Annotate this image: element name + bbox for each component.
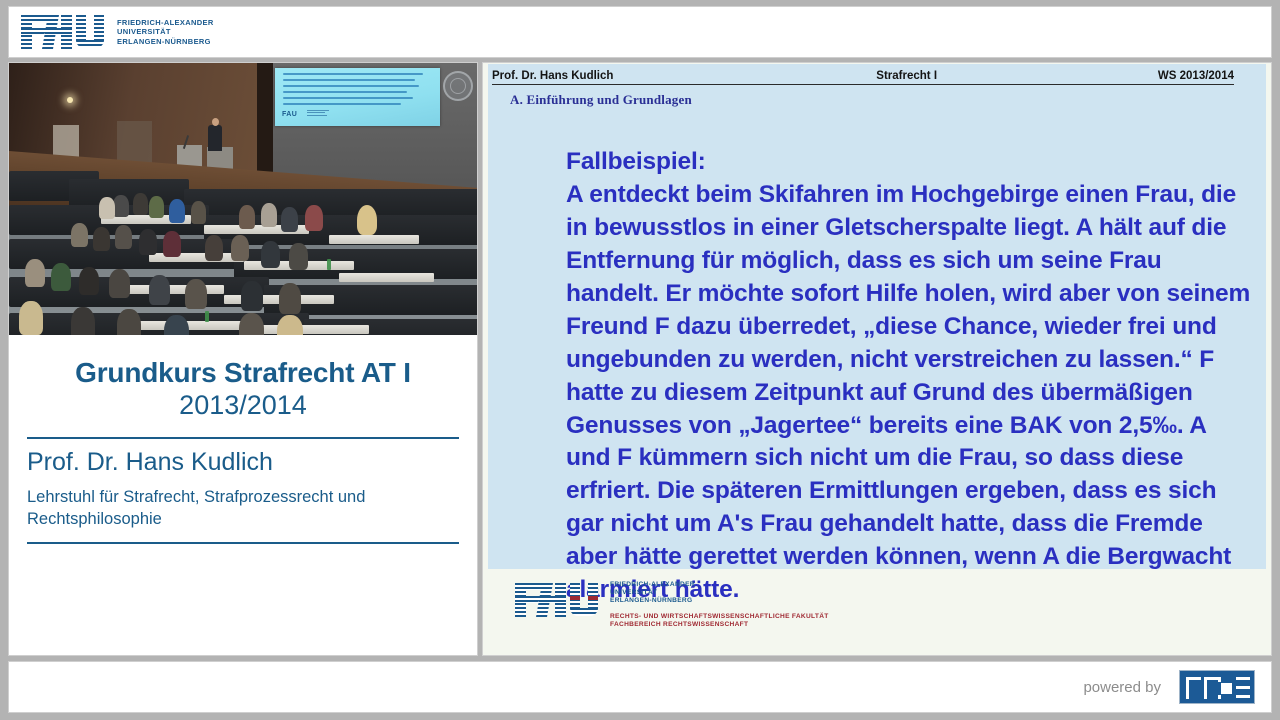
slide-body-text: A entdeckt beim Skifahren im Hochgebirge… (566, 181, 1250, 603)
lecturer-name: Prof. Dr. Hans Kudlich (27, 447, 459, 477)
course-year: 2013/2014 (27, 390, 459, 421)
divider-top (27, 437, 459, 439)
slide-footer-text: FRIEDRICH-ALEXANDER UNIVERSITÄT ERLANGEN… (610, 581, 829, 629)
fau-wordmark-icon-footer (513, 581, 601, 619)
footer-bar: powered by (8, 661, 1272, 713)
slide-header: Prof. Dr. Hans Kudlich Strafrecht I WS 2… (492, 70, 1234, 85)
powered-by-label: powered by (1083, 679, 1161, 696)
slide-footer-logo: FRIEDRICH-ALEXANDER UNIVERSITÄT ERLANGEN… (513, 581, 829, 629)
course-title: Grundkurs Strafrecht AT I (27, 357, 459, 388)
course-info-panel: FAU (8, 62, 478, 656)
slide-content-box: Prof. Dr. Hans Kudlich Strafrecht I WS 2… (488, 64, 1266, 569)
content-row: FAU (8, 62, 1272, 656)
slide-header-term: WS 2013/2014 (1158, 70, 1234, 82)
divider-bottom (27, 542, 459, 544)
wall-seal-icon (443, 71, 473, 101)
rrze-logo-icon[interactable] (1179, 670, 1255, 704)
fau-wordmark-icon (19, 13, 107, 51)
footer-faculty-line-1: RECHTS- UND WIRTSCHAFTSWISSENSCHAFTLICHE… (610, 613, 829, 621)
fau-logo-subtitle: FRIEDRICH-ALEXANDER UNIVERSITÄT ERLANGEN… (117, 18, 214, 45)
slide-body-lead: Fallbeispiel: (566, 146, 1256, 179)
footer-logo-line-1: FRIEDRICH-ALEXANDER (610, 581, 829, 589)
footer-logo-line-3: ERLANGEN-NÜRNBERG (610, 597, 829, 605)
slide-header-course: Strafrecht I (613, 70, 1157, 82)
fau-logo: FRIEDRICH-ALEXANDER UNIVERSITÄT ERLANGEN… (19, 13, 214, 51)
fau-logo-line-1: FRIEDRICH-ALEXANDER (117, 18, 214, 27)
page-root: FRIEDRICH-ALEXANDER UNIVERSITÄT ERLANGEN… (0, 0, 1280, 720)
slide-body: Fallbeispiel: A entdeckt beim Skifahren … (566, 146, 1256, 607)
footer-faculty-line-2: FACHBEREICH RECHTSWISSENSCHAFT (610, 621, 829, 629)
fau-logo-line-3: ERLANGEN-NÜRNBERG (117, 37, 214, 46)
site-header: FRIEDRICH-ALEXANDER UNIVERSITÄT ERLANGEN… (8, 6, 1272, 58)
fau-logo-line-2: UNIVERSITÄT (117, 27, 214, 36)
lecture-hall-photo: FAU (9, 63, 477, 335)
slide-header-lecturer: Prof. Dr. Hans Kudlich (492, 70, 613, 82)
projection-screen: FAU (275, 68, 440, 126)
chair-description: Lehrstuhl für Strafrecht, Strafprozessre… (27, 487, 459, 529)
slide-panel: Prof. Dr. Hans Kudlich Strafrecht I WS 2… (482, 62, 1272, 656)
slide-section-heading: A. Einführung und Grundlagen (510, 92, 692, 108)
course-title-block: Grundkurs Strafrecht AT I 2013/2014 Prof… (9, 335, 477, 544)
